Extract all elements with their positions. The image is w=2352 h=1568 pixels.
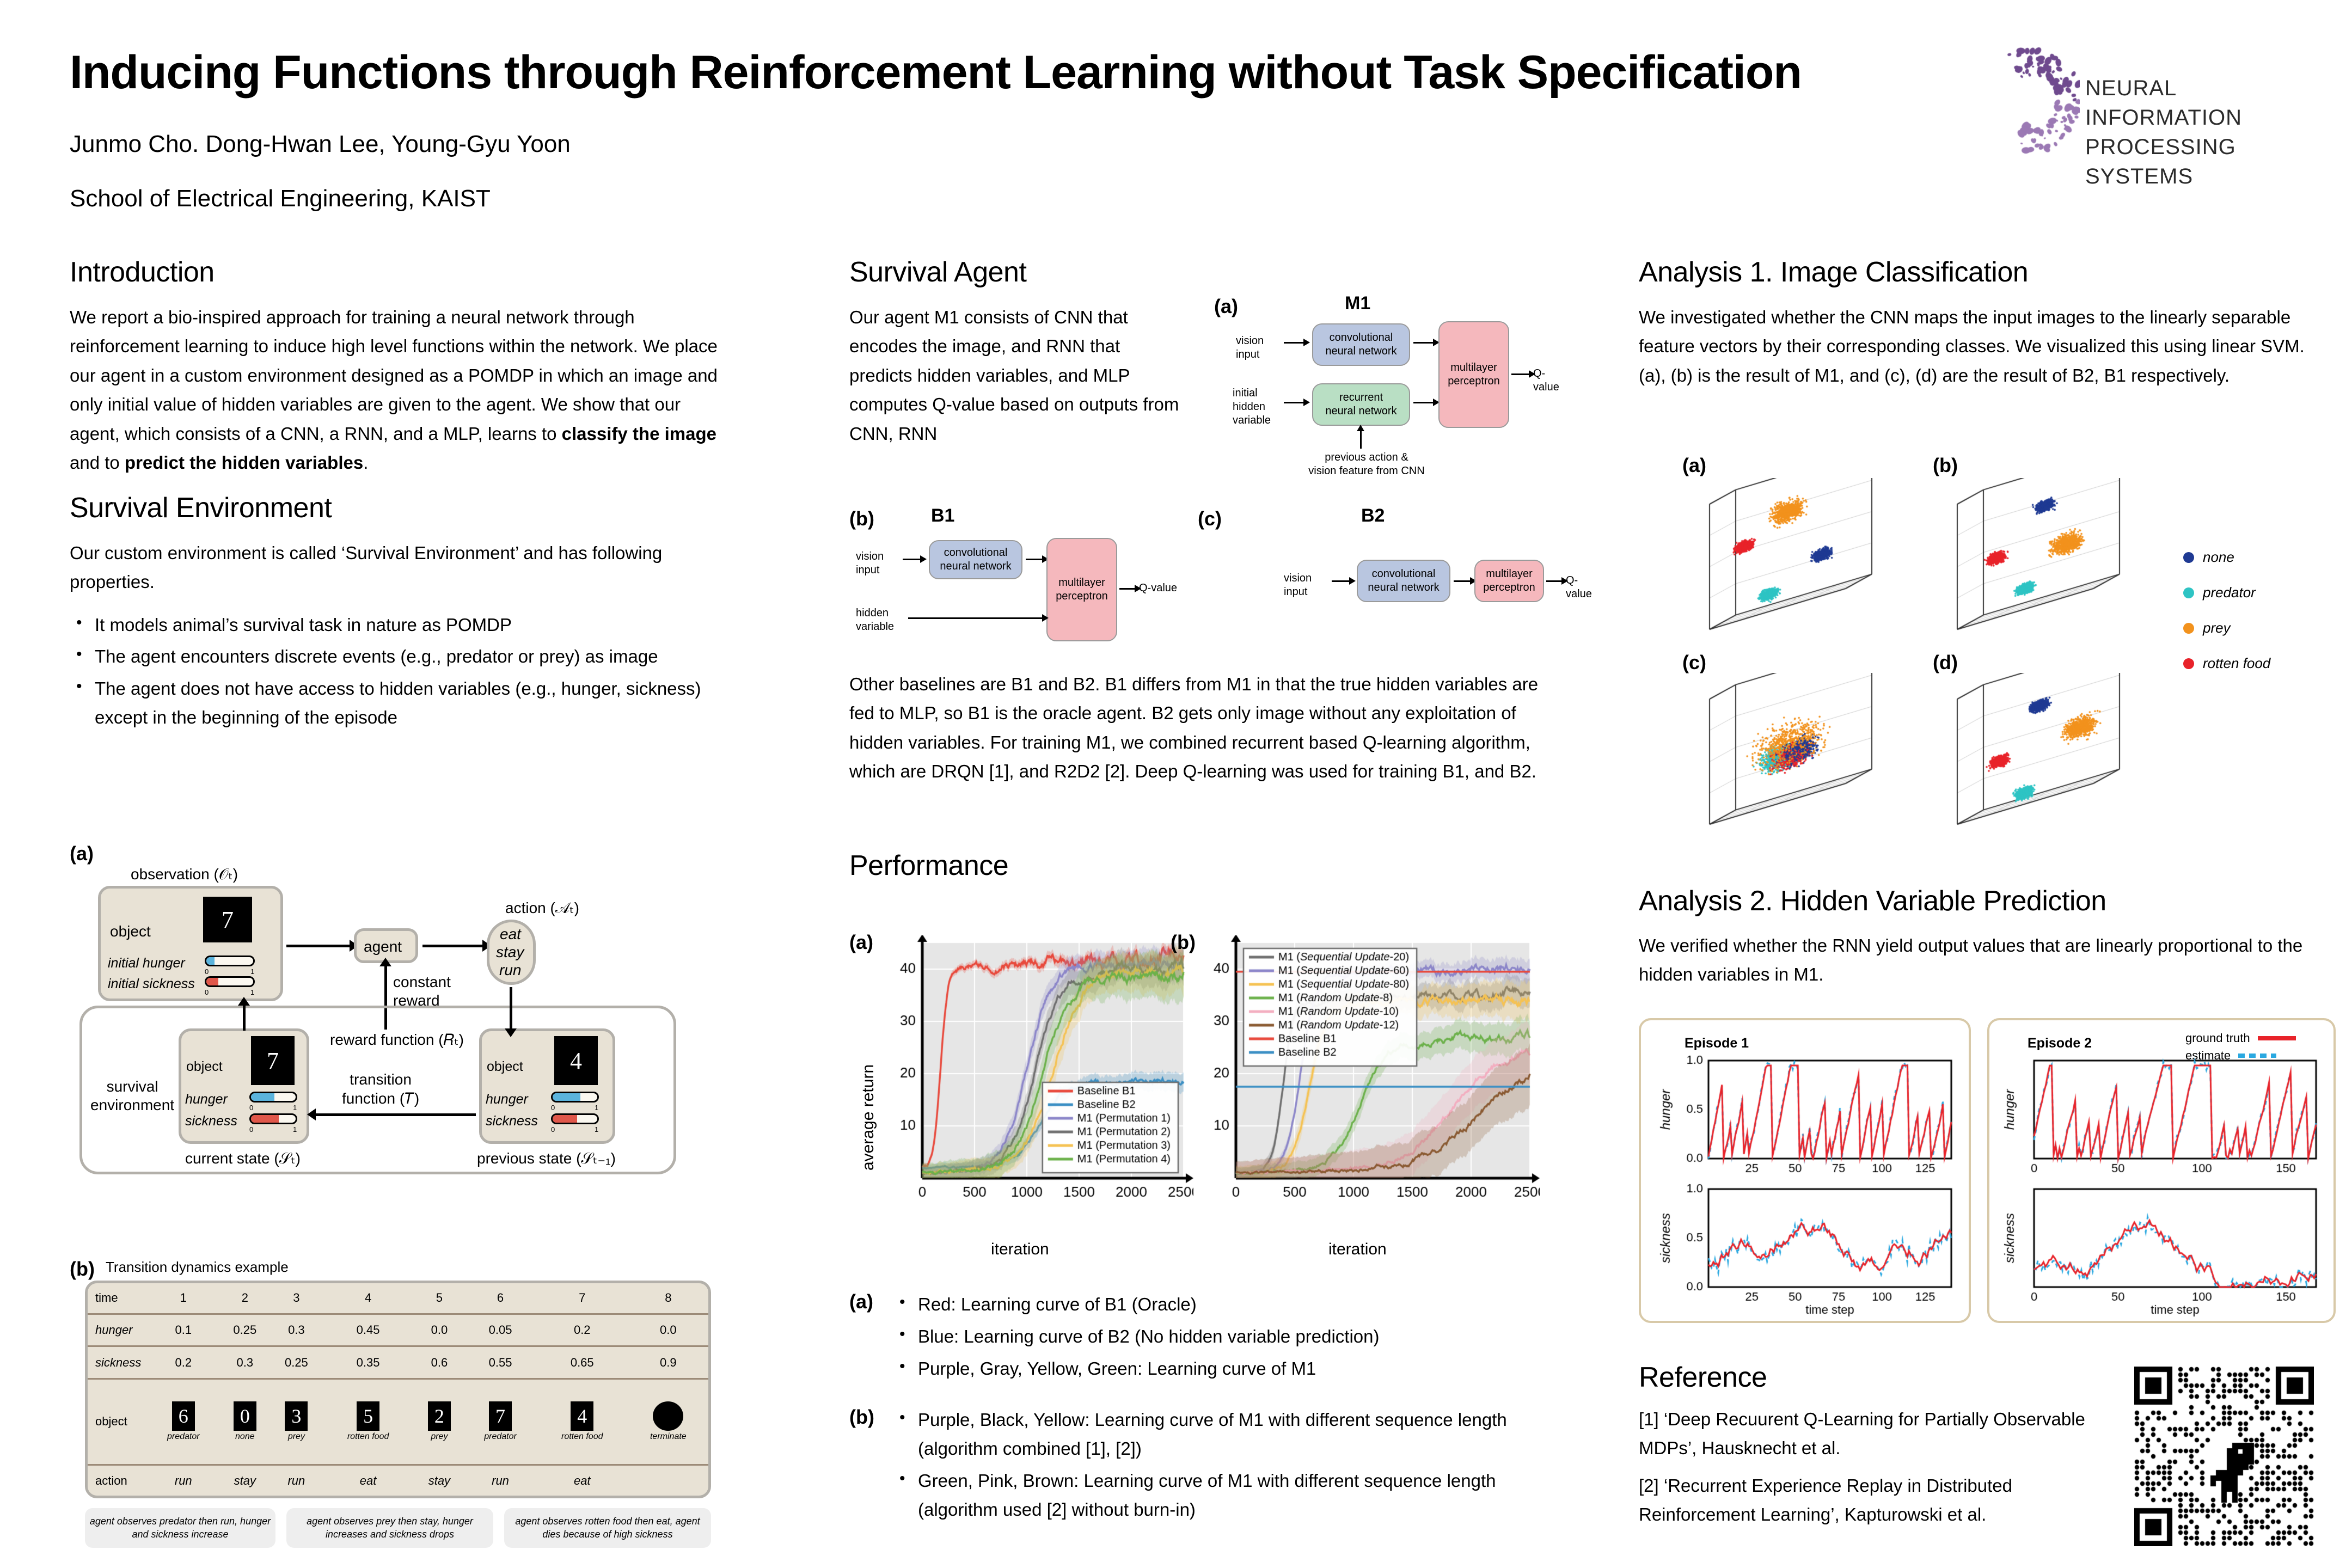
- object-image: 0: [234, 1401, 256, 1431]
- arrow-rnn-to-mlp: [1413, 402, 1434, 403]
- bar-scale-min: 0: [205, 988, 209, 996]
- episode-1-card: Episode 1: [1639, 1018, 1971, 1323]
- cell: 8: [628, 1283, 708, 1314]
- cell: 1: [148, 1283, 219, 1314]
- cell: stay: [219, 1465, 271, 1496]
- cell: run: [271, 1465, 322, 1496]
- chart-b-xlabel: iteration: [1328, 1240, 1387, 1259]
- cell-object: 2prey: [414, 1379, 465, 1465]
- object-tag: rotten food: [561, 1432, 603, 1442]
- cell: 0.3: [271, 1314, 322, 1346]
- ground-truth-swatch: [2258, 1036, 2296, 1040]
- cell: 0.1: [148, 1314, 219, 1346]
- cnn-box: convolutional neural network: [1357, 560, 1450, 602]
- cell: 0.0: [414, 1314, 465, 1346]
- bar-scale-max: 1: [293, 1125, 297, 1134]
- arrow-vision-to-cnn: [1332, 580, 1350, 582]
- cell: eat: [322, 1465, 414, 1496]
- bar-scale-min: 0: [551, 1104, 555, 1112]
- logo-line-2: PROCESSING SYSTEMS: [2085, 132, 2319, 191]
- vision-input-label: vision input: [1284, 572, 1312, 599]
- cell: 2: [219, 1283, 271, 1314]
- caption-b-label: (b): [849, 1406, 893, 1527]
- legend-label: none: [2203, 549, 2234, 566]
- bar-scale-min: 0: [249, 1125, 253, 1134]
- legend-item-none: none: [2183, 549, 2270, 566]
- object-label: object: [186, 1059, 223, 1075]
- transition-dynamics-figure: (b) Transition dynamics example time 1 2…: [70, 1258, 745, 1563]
- bar-scale-min: 0: [249, 1104, 253, 1112]
- b1-title: B1: [931, 505, 954, 526]
- arrow-hidden-to-mlp: [908, 617, 1043, 619]
- m1-title: M1: [1345, 293, 1370, 314]
- table-row: action run stay run eat stay run eat: [88, 1465, 708, 1496]
- object-tag: rotten food: [347, 1432, 389, 1442]
- right-column: Analysis 1. Image Classification We inve…: [1639, 256, 2336, 404]
- qr-code[interactable]: [2134, 1367, 2314, 1546]
- q-value-label: Q-value: [1533, 367, 1563, 394]
- arrow-state-to-observation: [243, 1004, 246, 1031]
- arrow-cnn-to-mlp: [1454, 580, 1471, 582]
- previous-state-label: previous state (𝒮ₜ₋₁): [477, 1149, 616, 1168]
- environment-properties-list: It models animal’s survival task in natu…: [70, 611, 728, 732]
- cell: 0.45: [322, 1314, 414, 1346]
- action-run: run: [499, 961, 521, 979]
- rnn-box: recurrent neural network: [1312, 383, 1410, 426]
- cell: 0.3: [219, 1346, 271, 1379]
- neurips-logo-text: NEURAL INFORMATION PROCESSING SYSTEMS: [2085, 73, 2319, 191]
- analysis1-heading: Analysis 1. Image Classification: [1639, 256, 2336, 289]
- q-value-label: Q-value: [1566, 574, 1592, 601]
- list-item: Purple, Gray, Yellow, Green: Learning cu…: [893, 1355, 1552, 1383]
- mlp-box: multilayer perceptron: [1046, 538, 1117, 641]
- row-label-sickness: sickness: [88, 1346, 148, 1379]
- bar-scale-min: 0: [551, 1125, 555, 1134]
- action-stay: stay: [496, 944, 524, 961]
- cell: 0.05: [464, 1314, 536, 1346]
- current-state-digit: 7: [251, 1036, 295, 1085]
- middle-column: Survival Agent Our agent M1 consists of …: [849, 256, 1563, 462]
- svm-scatter-grid: (a) (b) (c) (d) none predator prey rotte…: [1639, 457, 2336, 855]
- reference-1: [1] ‘Deep Recuurent Q-Learning for Parti…: [1639, 1405, 2118, 1463]
- bar-scale-max: 1: [595, 1104, 598, 1112]
- cell: 5: [414, 1283, 465, 1314]
- cell: 0.25: [271, 1346, 322, 1379]
- legend-item-prey: prey: [2183, 620, 2270, 636]
- arrow-cnn-to-mlp: [1413, 342, 1434, 344]
- figure-a-label: (a): [70, 842, 94, 865]
- cell: 4: [322, 1283, 414, 1314]
- cell: 0.35: [322, 1346, 414, 1379]
- class-color-swatch: [2183, 587, 2194, 598]
- hidden-variable-label: hidden variable: [856, 607, 894, 634]
- cell: 0.6: [414, 1346, 465, 1379]
- poster-header: Inducing Functions through Reinforcement…: [0, 0, 2352, 229]
- hunger-bar: [551, 1092, 599, 1102]
- survival-agent-paragraph: Our agent M1 consists of CNN that encode…: [849, 303, 1187, 448]
- agent-label: agent: [364, 938, 402, 955]
- b2-architecture-diagram: (c) B2 vision input convolutional neural…: [1198, 507, 1563, 644]
- object-image: 3: [285, 1401, 308, 1431]
- analysis1-paragraph: We investigated whether the CNN maps the…: [1639, 303, 2336, 390]
- class-color-swatch: [2183, 623, 2194, 634]
- hunger-bar: [249, 1092, 297, 1102]
- cnn-box: convolutional neural network: [929, 540, 1022, 579]
- diagram-a-label: (a): [1214, 295, 1238, 318]
- list-item: Blue: Learning curve of B2 (No hidden va…: [893, 1322, 1552, 1351]
- constant-reward-label: constant reward: [393, 973, 451, 1009]
- previous-action-note: previous action & vision feature from CN…: [1296, 451, 1437, 478]
- bar-scale-min: 0: [205, 967, 209, 976]
- legend-label: predator: [2203, 584, 2256, 601]
- survival-environment-paragraph: Our custom environment is called ‘Surviv…: [70, 538, 728, 597]
- arrow-mlp-to-qvalue: [1119, 588, 1136, 590]
- legend-label: rotten food: [2203, 655, 2270, 672]
- bar-scale-max: 1: [250, 967, 254, 976]
- sickness-bar: [551, 1113, 599, 1124]
- chart-b-label: (b): [1171, 931, 1196, 954]
- transition-table: time 1 2 3 4 5 6 7 8 hunger 0.1 0.25 0.3…: [85, 1281, 711, 1498]
- pomdp-diagram: (a) observation (𝒪ₜ) action (𝒜ₜ) object …: [70, 847, 745, 1206]
- object-tag: predator: [484, 1432, 517, 1442]
- cell-object: 5rotten food: [322, 1379, 414, 1465]
- action-label: action (𝒜ₜ): [505, 899, 579, 917]
- left-column: Introduction We report a bio-inspired ap…: [70, 256, 728, 736]
- cell-object: 7predator: [464, 1379, 536, 1465]
- callout-2: agent observes prey then stay, hunger in…: [286, 1508, 493, 1548]
- reference-2: [2] ‘Recurrent Experience Replay in Dist…: [1639, 1471, 2118, 1529]
- table-row: object 6predator0none3prey5rotten food2p…: [88, 1379, 708, 1465]
- legend-item-predator: predator: [2183, 584, 2270, 601]
- object-image: 4: [571, 1401, 593, 1431]
- observation-label: observation (𝒪ₜ): [131, 865, 238, 884]
- table-row: time 1 2 3 4 5 6 7 8: [88, 1283, 708, 1314]
- callout-3: agent observes rotten food then eat, age…: [504, 1508, 711, 1548]
- cell: 0.25: [219, 1314, 271, 1346]
- cell-object: 0none: [219, 1379, 271, 1465]
- object-label: object: [110, 923, 151, 940]
- q-value-label: Q-value: [1139, 581, 1177, 595]
- arrow-vision-to-cnn: [903, 559, 921, 560]
- class-color-swatch: [2183, 552, 2194, 563]
- figure-b-label: (b): [70, 1258, 95, 1281]
- observation-digit: 7: [203, 897, 252, 942]
- performance-chart-a: (a) average return iteration: [849, 931, 1198, 1269]
- object-tag: prey: [431, 1432, 448, 1442]
- initial-hidden-variable-label: initial hidden variable: [1233, 387, 1271, 427]
- reference-heading: Reference: [1639, 1361, 1767, 1394]
- performance-captions: (a) Red: Learning curve of B1 (Oracle) B…: [849, 1290, 1552, 1528]
- introduction-paragraph: We report a bio-inspired approach for tr…: [70, 303, 728, 477]
- previous-state-digit: 4: [554, 1036, 598, 1085]
- neurips-logo: NEURAL INFORMATION PROCESSING SYSTEMS: [1971, 33, 2319, 169]
- mlp-box: multilayer perceptron: [1438, 321, 1509, 428]
- affiliation-line: School of Electrical Engineering, KAIST: [70, 185, 491, 212]
- cell-object: 6predator: [148, 1379, 219, 1465]
- class-legend: none predator prey rotten food: [2183, 549, 2270, 690]
- diagram-b-label: (b): [849, 507, 874, 530]
- arrow-transition: [315, 1113, 476, 1116]
- initial-sickness-bar: [205, 976, 255, 987]
- cell: 0.65: [536, 1346, 628, 1379]
- survival-environment-heading: Survival Environment: [70, 492, 728, 524]
- analysis2-paragraph: We verified whether the RNN yield output…: [1639, 931, 2336, 989]
- cell: run: [464, 1465, 536, 1496]
- cell: 6: [464, 1283, 536, 1314]
- logo-line-1: NEURAL INFORMATION: [2085, 73, 2319, 132]
- cell: 0.2: [148, 1346, 219, 1379]
- performance-heading: Performance: [849, 849, 1008, 882]
- legend-label-ground-truth: ground truth: [2185, 1031, 2250, 1045]
- row-label-action: action: [88, 1465, 148, 1496]
- row-label-hunger: hunger: [88, 1314, 148, 1346]
- m1-architecture-diagram: (a) M1 vision input convolutional neural…: [1214, 295, 1563, 513]
- transition-function-label: transition function (𝑇): [342, 1070, 419, 1108]
- diagram-c-label: (c): [1198, 507, 1222, 530]
- page-title: Inducing Functions through Reinforcement…: [70, 49, 1932, 96]
- list-item: It models animal’s survival task in natu…: [70, 611, 728, 640]
- cell: run: [148, 1465, 219, 1496]
- cell-object: 3prey: [271, 1379, 322, 1465]
- figure-b-title: Transition dynamics example: [106, 1259, 289, 1276]
- performance-chart-b: (b) iteration: [1171, 931, 1552, 1269]
- baseline-paragraph: Other baselines are B1 and B2. B1 differ…: [849, 670, 1552, 786]
- list-item: The agent encounters discrete events (e.…: [70, 642, 728, 671]
- introduction-heading: Introduction: [70, 256, 728, 289]
- chart-a-xlabel: iteration: [991, 1240, 1049, 1259]
- chart-a-ylabel: average return: [859, 1064, 878, 1171]
- cell: [628, 1465, 708, 1496]
- legend-label: prey: [2203, 620, 2231, 636]
- vision-input-label: vision input: [1236, 334, 1264, 362]
- scatter-a-label: (a): [1682, 454, 1706, 477]
- bar-scale-max: 1: [293, 1104, 297, 1112]
- sickness-label: sickness: [185, 1113, 237, 1129]
- action-eat: eat: [500, 926, 521, 943]
- cell: eat: [536, 1465, 628, 1496]
- arrow-vision-to-cnn: [1284, 342, 1304, 344]
- object-image: 6: [172, 1401, 195, 1431]
- sickness-label: sickness: [486, 1113, 538, 1129]
- initial-hunger-label: initial hunger: [108, 955, 185, 971]
- list-item: Green, Pink, Brown: Learning curve of M1…: [893, 1467, 1552, 1524]
- table-row: hunger 0.1 0.25 0.3 0.45 0.0 0.05 0.2 0.…: [88, 1314, 708, 1346]
- arrow-mlp-to-qvalue: [1546, 580, 1563, 582]
- legend-item-rotten-food: rotten food: [2183, 655, 2270, 672]
- list-item: Purple, Black, Yellow: Learning curve of…: [893, 1406, 1552, 1463]
- object-tag: none: [235, 1432, 255, 1442]
- arrow-action-to-previous-state: [510, 987, 512, 1030]
- list-item: The agent does not have access to hidden…: [70, 675, 728, 732]
- chart-a-label: (a): [849, 931, 873, 954]
- cell: 0.55: [464, 1346, 536, 1379]
- authors-line: Junmo Cho. Dong-Hwan Lee, Young-Gyu Yoon: [70, 131, 571, 158]
- analysis2-heading: Analysis 2. Hidden Variable Prediction: [1639, 885, 2106, 917]
- object-image: 7: [489, 1401, 512, 1431]
- cnn-box: convolutional neural network: [1312, 323, 1410, 366]
- row-label-object: object: [88, 1379, 148, 1465]
- initial-hunger-bar: [205, 955, 255, 966]
- object-image: 2: [428, 1401, 451, 1431]
- caption-a-label: (a): [849, 1290, 893, 1386]
- bar-scale-max: 1: [595, 1125, 598, 1134]
- sickness-bar: [249, 1113, 297, 1124]
- survival-environment-label: survival environment: [90, 1077, 174, 1114]
- cell-object: terminate: [628, 1379, 708, 1465]
- arrow-observation-to-agent: [286, 945, 351, 947]
- arrow-cnn-to-mlp: [1026, 559, 1043, 560]
- cell: 0.9: [628, 1346, 708, 1379]
- cell: 0.2: [536, 1314, 628, 1346]
- initial-sickness-label: initial sickness: [108, 976, 195, 992]
- table-row: sickness 0.2 0.3 0.25 0.35 0.6 0.55 0.65…: [88, 1346, 708, 1379]
- b1-architecture-diagram: (b) B1 vision input convolutional neural…: [849, 507, 1187, 649]
- object-tag: prey: [288, 1432, 305, 1442]
- b2-title: B2: [1361, 505, 1385, 526]
- mlp-box: multilayer perceptron: [1474, 560, 1544, 602]
- hunger-label: hunger: [185, 1092, 228, 1107]
- object-label: object: [487, 1059, 523, 1075]
- cell: 3: [271, 1283, 322, 1314]
- cell: stay: [414, 1465, 465, 1496]
- survival-agent-heading: Survival Agent: [849, 256, 1563, 289]
- arrow-mlp-to-qvalue: [1511, 373, 1530, 375]
- row-label-time: time: [88, 1283, 148, 1314]
- arrow-hidden-to-rnn: [1284, 402, 1304, 403]
- object-tag: terminate: [650, 1432, 687, 1442]
- bar-scale-max: 1: [250, 988, 254, 996]
- object-image: 5: [357, 1401, 379, 1431]
- cell-object: 4rotten food: [536, 1379, 628, 1465]
- list-item: Red: Learning curve of B1 (Oracle): [893, 1290, 1552, 1319]
- arrow-feedback-to-rnn: [1360, 430, 1362, 449]
- episode-2-card: Episode 2 ground truth estimate: [1987, 1018, 2336, 1323]
- arrow-agent-to-action: [422, 945, 483, 947]
- callout-1: agent observes predator then run, hunger…: [85, 1508, 275, 1548]
- current-state-label: current state (𝒮ₜ): [185, 1149, 301, 1168]
- vision-input-label: vision input: [856, 550, 884, 577]
- object-image: [653, 1401, 683, 1431]
- cell: 0.0: [628, 1314, 708, 1346]
- scatter-b-label: (b): [1933, 454, 1958, 477]
- class-color-swatch: [2183, 658, 2194, 669]
- object-tag: predator: [167, 1432, 200, 1442]
- cell: 7: [536, 1283, 628, 1314]
- hunger-label: hunger: [486, 1092, 528, 1107]
